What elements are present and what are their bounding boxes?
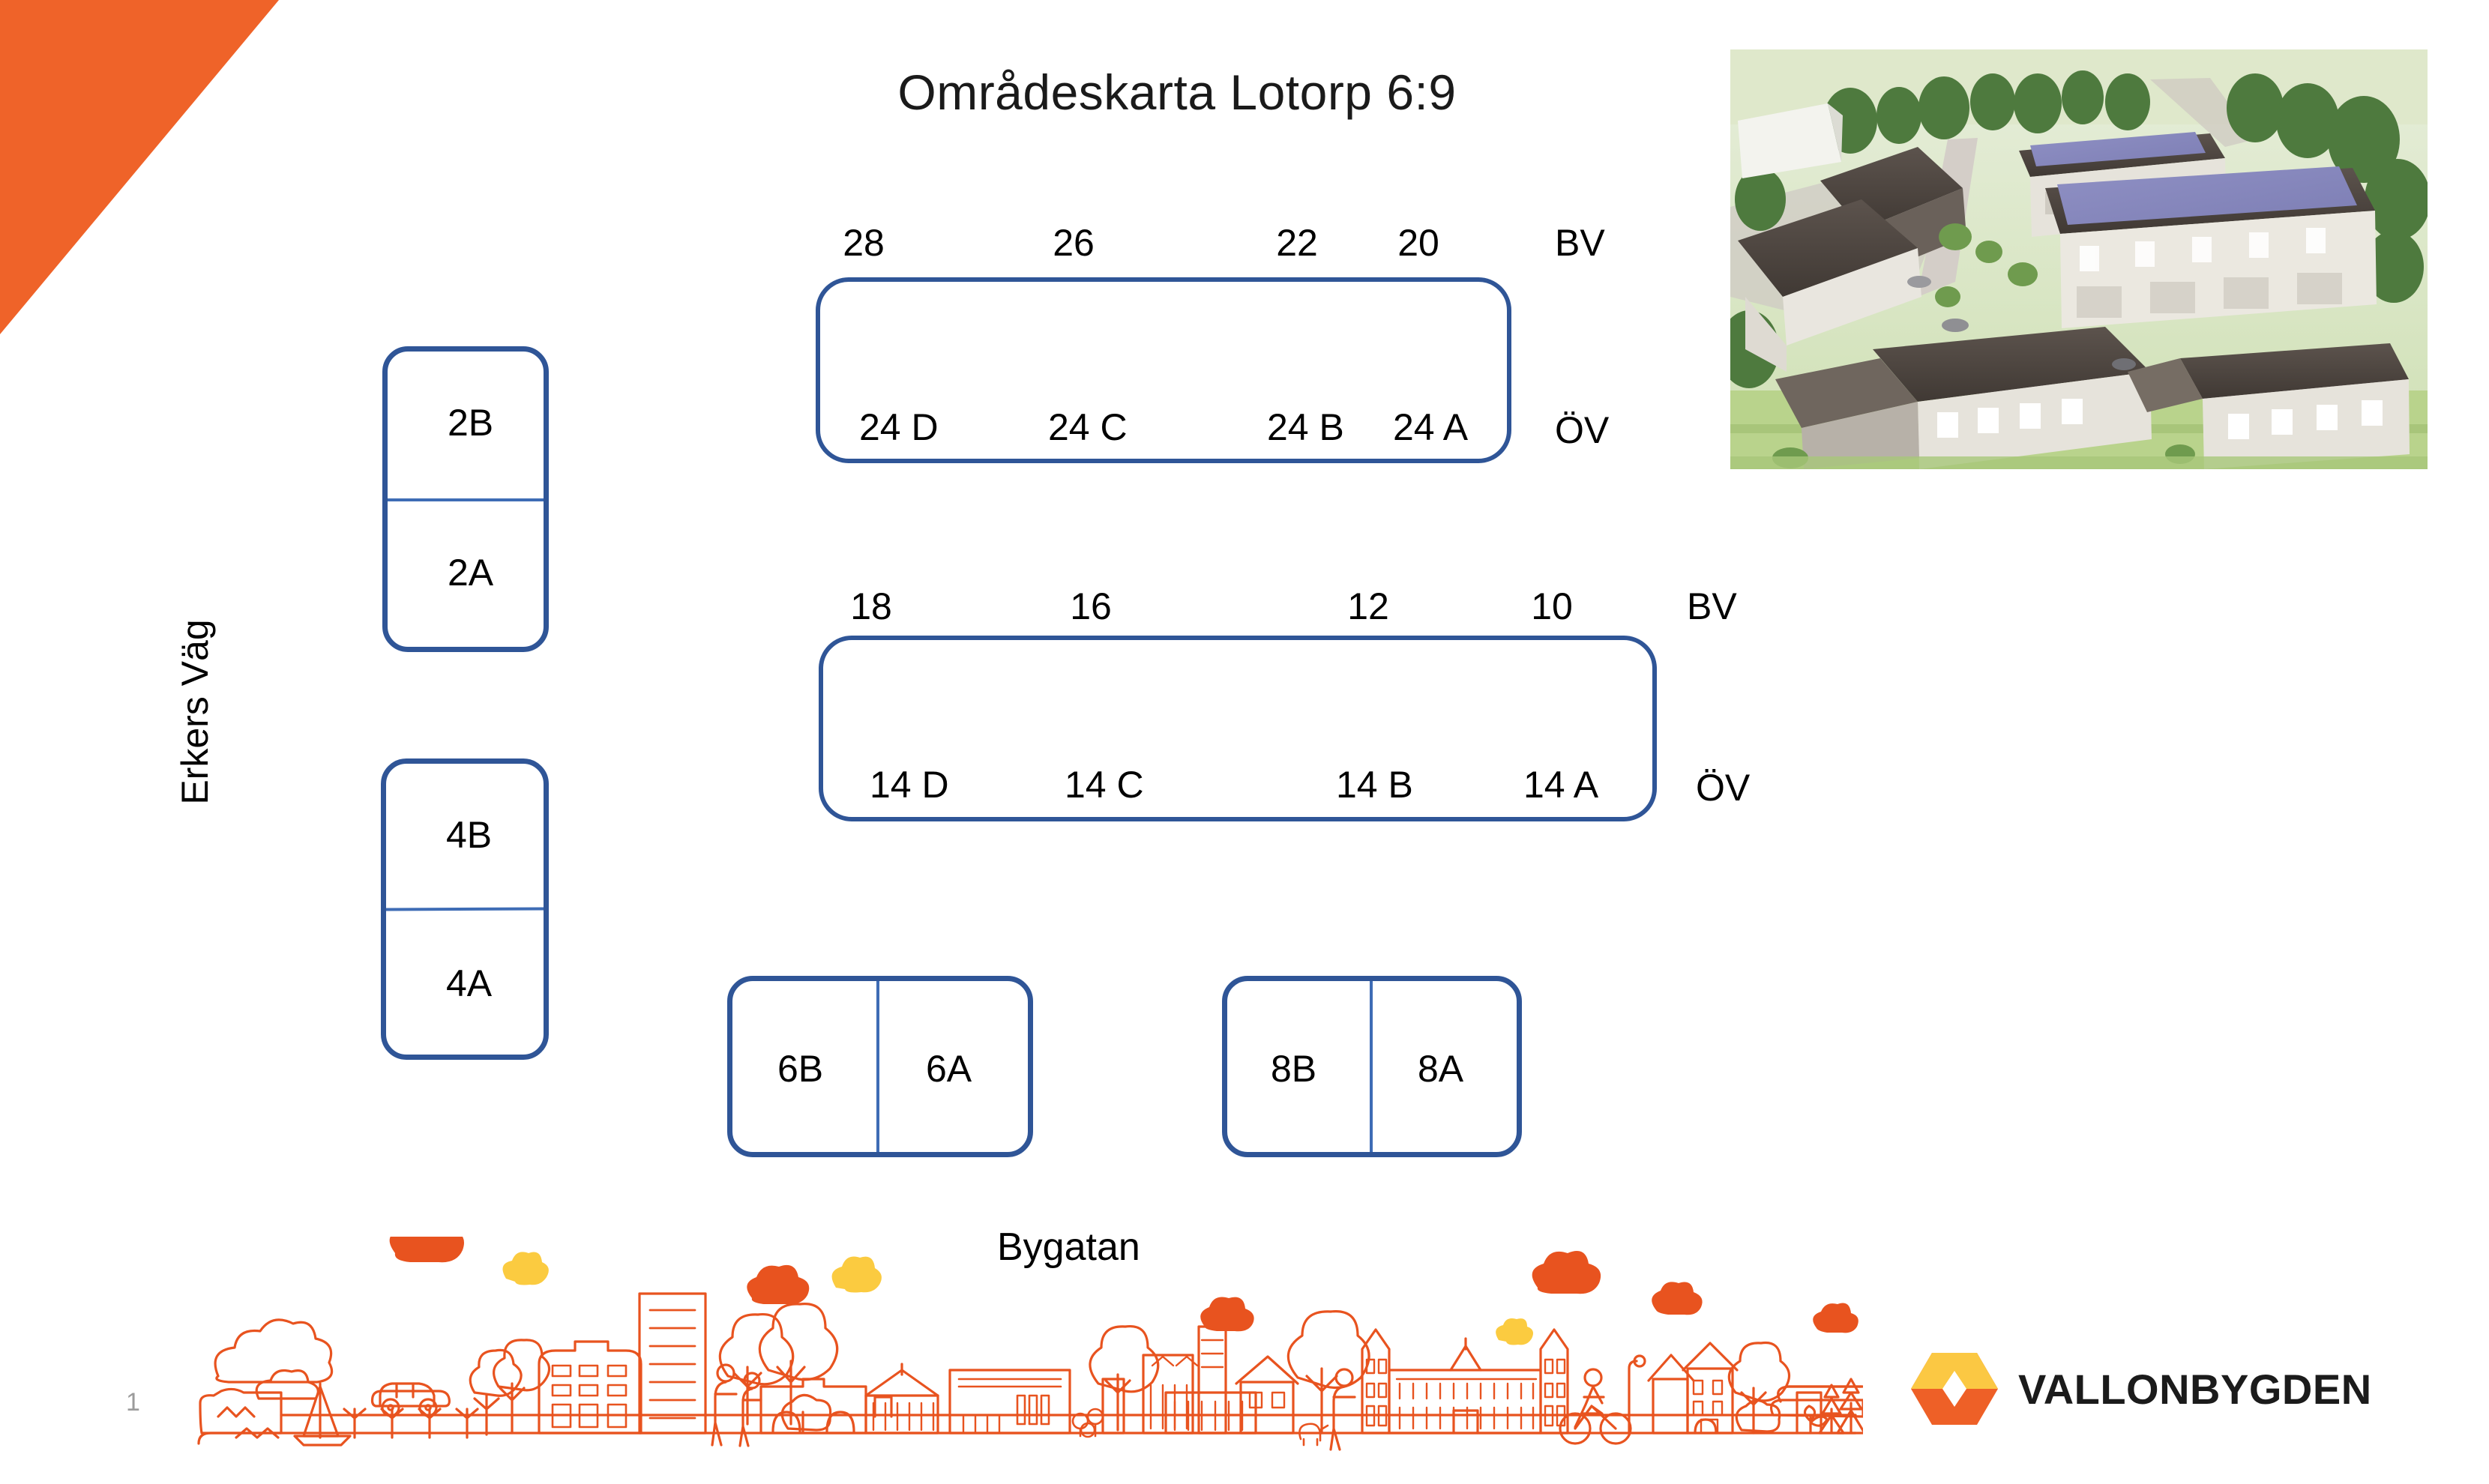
- floor-label-ov-row2: ÖV: [1696, 766, 1750, 809]
- unit-label-4b: 4B: [446, 816, 492, 854]
- floor-label-bv-row2: BV: [1687, 585, 1737, 628]
- building-block-2[interactable]: 2B 2A: [382, 346, 549, 652]
- slide-canvas: Områdeskarta Lotorp 6:9: [0, 0, 2489, 1484]
- unit-label-2a: 2A: [448, 554, 493, 591]
- corner-triangle-decoration: [0, 0, 279, 334]
- street-label-erkers-vag: Erkers Väg: [171, 592, 219, 832]
- unit-label-14a: 14 A: [1523, 766, 1598, 803]
- unit-label-14c: 14 C: [1065, 766, 1144, 803]
- unit-label-4a: 4A: [446, 965, 492, 1002]
- block-6-divider: [876, 981, 879, 1152]
- unit-label-8b: 8B: [1271, 1050, 1316, 1088]
- unit-label-14b: 14 B: [1336, 766, 1413, 803]
- block-4-divider: [386, 907, 544, 911]
- city-skyline-illustration: [191, 1237, 1863, 1462]
- unit-label-24b: 24 B: [1267, 408, 1344, 446]
- unit-label-2b: 2B: [448, 404, 493, 441]
- address-number-16: 16: [1053, 585, 1128, 628]
- page-number: 1: [126, 1388, 140, 1417]
- page-title: Områdeskarta Lotorp 6:9: [757, 64, 1597, 121]
- address-number-10: 10: [1514, 585, 1589, 628]
- building-block-8[interactable]: 8B 8A: [1222, 976, 1522, 1157]
- aerial-photo: [1730, 49, 2428, 469]
- address-number-20: 20: [1381, 221, 1456, 265]
- block-2-divider: [388, 498, 544, 501]
- building-block-4[interactable]: 4B 4A: [381, 758, 549, 1060]
- address-number-12: 12: [1331, 585, 1406, 628]
- unit-label-8a: 8A: [1418, 1050, 1463, 1088]
- address-number-18: 18: [834, 585, 909, 628]
- unit-label-24c: 24 C: [1048, 408, 1128, 446]
- unit-label-6b: 6B: [777, 1050, 823, 1088]
- address-number-26: 26: [1036, 221, 1111, 265]
- building-block-6[interactable]: 6B 6A: [727, 976, 1033, 1157]
- floor-label-ov-row1: ÖV: [1555, 408, 1609, 452]
- unit-label-24d: 24 D: [859, 408, 939, 446]
- address-number-22: 22: [1259, 221, 1334, 265]
- vallonbygden-logo-text: VALLONBYGDEN: [2018, 1365, 2372, 1414]
- vallonbygden-logo: VALLONBYGDEN: [1910, 1348, 2345, 1430]
- block-8-divider: [1370, 981, 1373, 1152]
- vallonbygden-logo-mark: [1910, 1351, 1999, 1426]
- address-number-28: 28: [826, 221, 901, 265]
- unit-label-14d: 14 D: [870, 766, 949, 803]
- floor-label-bv-row1: BV: [1555, 221, 1605, 265]
- unit-label-6a: 6A: [926, 1050, 972, 1088]
- unit-label-24a: 24 A: [1393, 408, 1468, 446]
